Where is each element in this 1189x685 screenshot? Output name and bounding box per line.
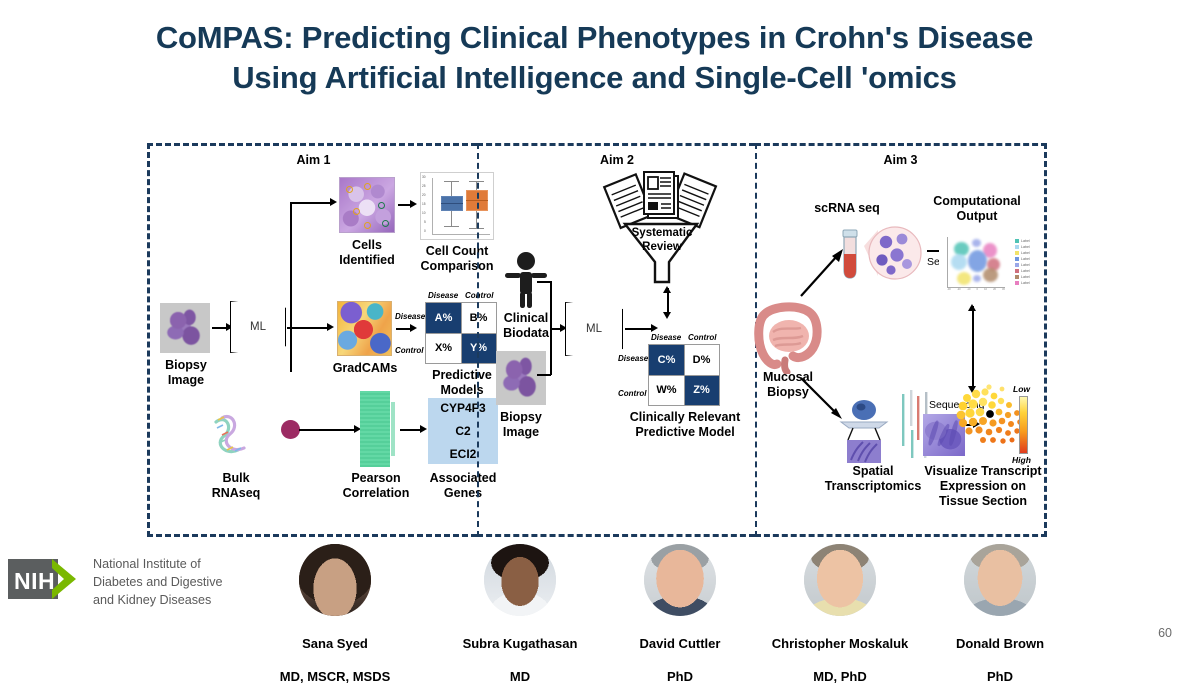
matrix-cell-a: A% [426, 303, 461, 333]
arrowhead-ml-to-matrix [651, 324, 658, 332]
aim1-rnaseq-caption: Bulk RNAseq [198, 471, 274, 501]
person-degrees: PhD [987, 669, 1013, 684]
matrix-cell-x: X% [426, 333, 461, 363]
aim1-cells-identified-image [339, 177, 395, 233]
tsne-legend-item: Label [1021, 239, 1030, 243]
aim2-label: Aim 2 [479, 153, 755, 167]
aim1-matrix-row-header-disease: Disease [395, 312, 425, 321]
arrowhead-ml-to-cells [330, 198, 337, 206]
arrow-ml-to-matrix [625, 328, 653, 330]
arrow-ml-to-gradcam [287, 327, 329, 329]
arrow-rnaseq-to-pearson [299, 429, 356, 431]
avatar [964, 544, 1036, 616]
tsne-computational-output: -30-20-100102030 [939, 234, 1013, 296]
avatar [644, 544, 716, 616]
tsne-legend-item: Label [1021, 245, 1030, 249]
spatial-transcriptomics-icon [833, 396, 895, 464]
aim3-computational-caption: Computational Output [921, 194, 1033, 224]
title-line-1: CoMPAS: Predicting Clinical Phenotypes i… [156, 20, 1033, 55]
person-branch-line [537, 281, 551, 283]
person-name-text: Sana Syed [302, 636, 368, 651]
avatar [484, 544, 556, 616]
tsne-legend-item: Label [1021, 281, 1030, 285]
arrowhead-gradcam-to-matrix [410, 324, 417, 332]
aim2-biopsy-caption: Biopsy Image [485, 410, 557, 440]
aim3-visualize-caption: Visualize Transcript Expression on Tissu… [913, 464, 1053, 508]
person-degrees: MD, PhD [813, 669, 866, 684]
matrix-cell-d: D% [684, 345, 719, 375]
person-name-text: Donald Brown [956, 636, 1044, 651]
aim2-biopsy-image [496, 351, 546, 405]
person-name: Christopher Moskaluk MD, PhD [765, 620, 915, 685]
rnaseq-node-dot [281, 420, 300, 439]
aim1-cells-caption: Cells Identified [330, 238, 404, 268]
person-card: Sana Syed MD, MSCR, MSDS [260, 544, 410, 685]
person-name-text: Subra Kugathasan [463, 636, 578, 651]
aim1-ml-label: ML [231, 321, 285, 333]
tsne-legend-item: Label [1021, 275, 1030, 279]
person-degrees: MD [510, 669, 530, 684]
nih-logo: NIH [8, 556, 84, 602]
person-card: Christopher Moskaluk MD, PhD [765, 544, 915, 685]
arrowhead-funnel-to-matrix [663, 312, 671, 319]
biopsy-branch-line [537, 374, 551, 376]
aim1-biopsy-caption: Biopsy Image [150, 358, 222, 388]
person-name: Subra Kugathasan MD [445, 620, 595, 685]
gene-2: C2 [455, 424, 470, 438]
avatar [804, 544, 876, 616]
person-degrees: MD, MSCR, MSDS [280, 669, 391, 684]
aim2-matrix-col-header-disease: Disease [651, 333, 681, 342]
aim1-matrix-col-header-disease: Disease [428, 291, 458, 300]
person-name: Donald Brown PhD [925, 620, 1075, 685]
tsne-legend: Label Label Label Label Label Label Labe… [1015, 238, 1039, 286]
gene-3: ECI2 [450, 447, 477, 461]
aim3-label: Aim 3 [757, 153, 1044, 167]
transcript-expression-colorbar [1019, 396, 1028, 454]
tsne-legend-item: Label [1021, 251, 1030, 255]
matrix-cell-z: Z% [684, 375, 719, 405]
ml-to-cells-line [290, 202, 332, 204]
person-card: David Cuttler PhD [605, 544, 755, 685]
person-card: Subra Kugathasan MD [445, 544, 595, 685]
tsne-transcript-connector [972, 306, 974, 390]
aims-diagram: Aim 1 Biopsy Image ML Cells Identified [147, 143, 1047, 537]
aim2-ml-block: ML [565, 302, 623, 356]
nih-institute-name: National Institute of Diabetes and Diges… [93, 556, 223, 610]
aim1-matrix-row-header-control: Control [395, 346, 423, 355]
aim2-matrix-col-header-control: Control [688, 333, 716, 342]
aim2-funnel-label: Systematic Review [624, 227, 700, 254]
aim1-pearson-caption: Pearson Correlation [335, 471, 417, 501]
arrowhead-cells-to-boxplot [410, 200, 417, 208]
aim2-matrix-row-header-disease: Disease [618, 354, 648, 363]
bulk-rnaseq-icon [208, 412, 266, 464]
aim3-scrna-caption: scRNA seq [797, 201, 897, 216]
title-line-2: Using Artificial Intelligence and Single… [0, 58, 1189, 98]
tsne-legend-item: Label [1021, 269, 1030, 273]
aim2-ml-label: ML [566, 323, 622, 335]
aim2-matrix-row-header-control: Control [618, 389, 646, 398]
person-name: Sana Syed MD, MSCR, MSDS [260, 620, 410, 685]
svg-text:NIH: NIH [14, 568, 55, 594]
page-title: CoMPAS: Predicting Clinical Phenotypes i… [0, 18, 1189, 99]
arrowhead-matrix-to-funnel [663, 286, 671, 293]
matrix-cell-c: C% [649, 345, 684, 375]
ml-vertical-connector [290, 202, 292, 372]
avatar [299, 544, 371, 616]
slide-number: 60 [1158, 626, 1172, 640]
aim1-label: Aim 1 [150, 153, 477, 167]
aim1-gradcam-image [337, 301, 392, 356]
aim2-clinical-caption: Clinical Biodata [485, 311, 567, 341]
aim2-matrix-caption: Clinically Relevant Predictive Model [629, 410, 741, 440]
clinical-biodata-person-icon [503, 251, 549, 309]
aim1-gradcam-caption: GradCAMs [322, 361, 408, 376]
person-name-text: David Cuttler [640, 636, 721, 651]
clinically-relevant-confusion-matrix: C% D% W% Z% [648, 344, 720, 406]
matrix-cell-w: W% [649, 375, 684, 405]
arrowhead-ml-to-gradcam [327, 323, 334, 331]
aim1-panel: Aim 1 Biopsy Image ML Cells Identified [147, 143, 477, 537]
arrow-pearson-to-genes [400, 429, 422, 431]
arrowhead-pearson-to-genes [420, 425, 427, 433]
person-name: David Cuttler PhD [605, 620, 755, 685]
tsne-legend-item: Label [1021, 263, 1030, 267]
mucosal-biopsy-intestine-icon [751, 298, 827, 374]
person-name-text: Christopher Moskaluk [772, 636, 909, 651]
aim1-biopsy-image [160, 303, 210, 353]
scrna-cells-bubble [860, 222, 922, 284]
person-degrees: PhD [667, 669, 693, 684]
aim1-ml-block: ML [230, 301, 286, 353]
tsne-legend-item: Label [1021, 257, 1030, 261]
colorbar-low-label: Low [1013, 384, 1030, 394]
arrowhead-up-to-tsne [968, 304, 976, 311]
aim2-panel: Aim 2 Clinical Biodata Biopsy Image ML [477, 143, 755, 537]
person-card: Donald Brown PhD [925, 544, 1075, 685]
aim3-panel: Aim 3 scRNA seq Computational Output Muc… [755, 143, 1047, 537]
pearson-correlation-heatmap [360, 391, 390, 467]
